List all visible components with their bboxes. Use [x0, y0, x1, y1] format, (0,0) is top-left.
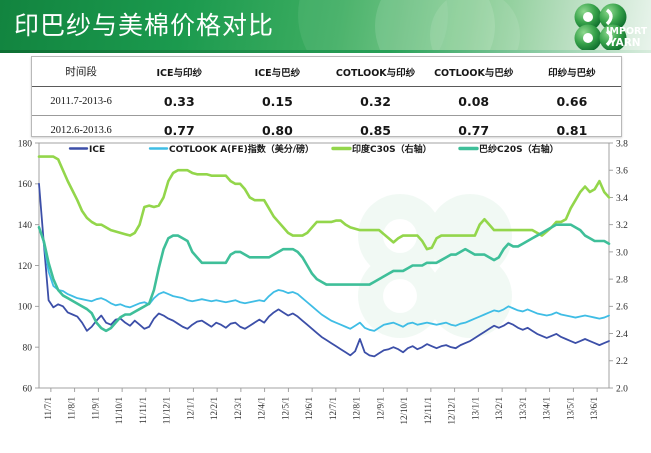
x-axis-tick-label: 12/12/1	[447, 397, 457, 425]
x-axis-tick-label: 11/9/1	[90, 397, 100, 420]
y2-axis-tick-label: 3.0	[616, 248, 628, 258]
brand-logo: IMPORTED YARN	[559, 1, 647, 53]
x-axis-tick-label: 11/10/1	[114, 397, 124, 424]
y2-axis-tick-label: 3.4	[616, 194, 628, 204]
x-axis-tick-label: 13/3/1	[518, 397, 528, 420]
x-axis-tick-label: 12/9/1	[375, 397, 385, 420]
x-axis-tick-label: 13/2/1	[494, 397, 504, 420]
y-axis-tick-label: 120	[18, 262, 33, 272]
y-axis-tick-label: 60	[23, 384, 33, 394]
y-axis-tick-label: 100	[18, 303, 33, 313]
row0-period: 2011.7-2013-6	[32, 87, 130, 116]
legend-label-2: 印度C30S（右轴）	[352, 143, 432, 155]
x-axis-tick-label: 12/10/1	[399, 397, 409, 425]
series-line-2	[39, 157, 609, 250]
x-axis-tick-label: 13/1/1	[470, 397, 480, 420]
series-line-3	[39, 225, 609, 331]
header-decor-circle-small	[430, 0, 520, 53]
y-axis-tick-label: 180	[18, 139, 33, 149]
x-axis-tick-label: 13/5/1	[565, 397, 575, 420]
correlation-table: 时间段 ICE与印纱 ICE与巴纱 COTLOOK与印纱 COTLOOK与巴纱 …	[31, 56, 622, 137]
x-axis-tick-label: 12/3/1	[233, 397, 243, 420]
logo-text-yarn: YARN	[608, 37, 641, 49]
row0-val4: 0.66	[523, 87, 621, 116]
slide-root: 印巴纱与美棉价格对比 IMPORTED	[0, 0, 651, 453]
y2-axis-tick-label: 2.6	[616, 303, 628, 313]
row0-val0: 0.33	[130, 87, 228, 116]
price-comparison-chart: 60801001201401601802.02.22.42.62.83.03.2…	[0, 136, 651, 436]
y2-axis-tick-label: 2.0	[616, 384, 628, 394]
y2-axis-tick-label: 2.4	[616, 330, 628, 340]
x-axis-tick-label: 12/1/1	[185, 397, 195, 420]
logo-text-imported: IMPORTED	[606, 26, 647, 37]
x-axis-tick-label: 12/11/1	[423, 397, 433, 424]
table-col-cotlook-india: COTLOOK与印纱	[326, 57, 424, 87]
y-axis-tick-label: 160	[18, 180, 33, 190]
y2-axis-tick-label: 2.8	[616, 276, 628, 286]
legend-label-0: ICE	[89, 145, 105, 155]
table-col-period: 时间段	[32, 57, 130, 87]
x-axis-tick-label: 11/8/1	[67, 397, 77, 420]
x-axis-tick-label: 12/6/1	[304, 397, 314, 420]
x-axis-tick-label: 12/2/1	[209, 397, 219, 420]
y2-axis-tick-label: 3.6	[616, 167, 628, 177]
table-col-ice-india: ICE与印纱	[130, 57, 228, 87]
row0-val3: 0.08	[425, 87, 523, 116]
logo-clover-icon: IMPORTED YARN	[559, 1, 647, 53]
x-axis-tick-label: 13/6/1	[589, 397, 599, 420]
x-axis-tick-label: 12/4/1	[257, 397, 267, 420]
table-col-india-pak: 印纱与巴纱	[523, 57, 621, 87]
legend-label-3: 巴纱C20S（右轴）	[479, 143, 559, 155]
legend-label-1: COTLOOK A(FE)指数（美分/磅）	[169, 143, 314, 155]
table-col-ice-pak: ICE与巴纱	[228, 57, 326, 87]
y2-axis-tick-label: 3.8	[616, 139, 628, 149]
x-axis-tick-label: 12/8/1	[352, 397, 362, 420]
x-axis-tick-label: 12/7/1	[328, 397, 338, 420]
x-axis-tick-label: 12/5/1	[280, 397, 290, 420]
y-axis-tick-label: 80	[23, 344, 33, 354]
page-title: 印巴纱与美棉价格对比	[14, 6, 274, 46]
x-axis-tick-label: 11/12/1	[162, 397, 172, 424]
slide-header: 印巴纱与美棉价格对比 IMPORTED	[0, 0, 651, 53]
row0-val1: 0.15	[228, 87, 326, 116]
table-header-row: 时间段 ICE与印纱 ICE与巴纱 COTLOOK与印纱 COTLOOK与巴纱 …	[32, 57, 621, 87]
row0-val2: 0.32	[326, 87, 424, 116]
table-row: 2011.7-2013-6 0.33 0.15 0.32 0.08 0.66	[32, 87, 621, 116]
x-axis-tick-label: 11/11/1	[138, 397, 148, 424]
table-col-cotlook-pak: COTLOOK与巴纱	[425, 57, 523, 87]
series-line-0	[39, 184, 609, 357]
header-underline	[0, 50, 651, 53]
y2-axis-tick-label: 2.2	[616, 357, 628, 367]
x-axis-tick-label: 11/7/1	[43, 397, 53, 420]
x-axis-tick-label: 13/4/1	[542, 397, 552, 420]
y2-axis-tick-label: 3.2	[616, 221, 628, 231]
y-axis-tick-label: 140	[18, 221, 33, 231]
